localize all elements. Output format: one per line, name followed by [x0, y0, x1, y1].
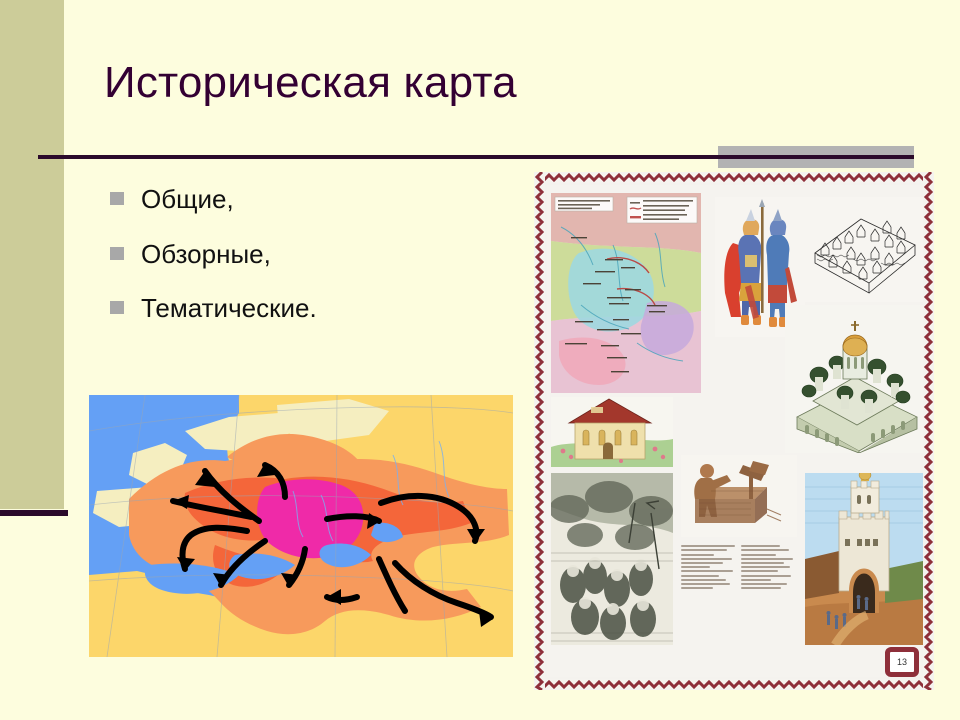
bullet-label: Обзорные,: [141, 238, 271, 271]
caption-column-left: [681, 543, 735, 591]
list-item: Общие,: [110, 183, 510, 216]
page-number-label: 13: [885, 647, 919, 677]
panel-craftsman-drawing: [681, 455, 797, 537]
textbook-page-content: 13: [547, 185, 921, 677]
page-border-bottom: [534, 679, 934, 690]
caption-column-right: [741, 543, 795, 591]
list-item: Обзорные,: [110, 238, 510, 271]
page-border-top: [534, 172, 934, 183]
panel-settlement-drawing: [805, 197, 923, 302]
textbook-page-image: 13: [534, 172, 934, 690]
list-item: Тематические.: [110, 292, 510, 325]
bullet-label: Тематические.: [141, 292, 317, 325]
panel-regional-map: [551, 193, 701, 393]
panel-fortress-gate-illustration: [805, 473, 923, 645]
decorative-side-underline: [0, 510, 68, 516]
migration-map-image: [89, 395, 513, 657]
page-border-right: [923, 172, 934, 690]
bullet-list: Общие, Обзорные, Тематические.: [110, 183, 510, 347]
panel-engraving-illustration: [551, 473, 673, 645]
decorative-side-band: [0, 0, 64, 509]
migration-map-graphic: [89, 395, 513, 657]
bullet-square-icon: [110, 192, 124, 205]
page-border-left: [534, 172, 545, 690]
title-divider-rule: [38, 155, 914, 159]
bullet-square-icon: [110, 301, 124, 314]
panel-house-illustration: [551, 397, 673, 467]
bullet-label: Общие,: [141, 183, 234, 216]
page-number-badge: 13: [885, 647, 919, 677]
page-title: Историческая карта: [104, 58, 844, 109]
slide: Историческая карта Общие, Обзорные, Тема…: [0, 0, 960, 720]
bullet-square-icon: [110, 247, 124, 260]
panel-cathedral-drawing: [785, 305, 925, 453]
panel-caption-list: [681, 543, 799, 645]
